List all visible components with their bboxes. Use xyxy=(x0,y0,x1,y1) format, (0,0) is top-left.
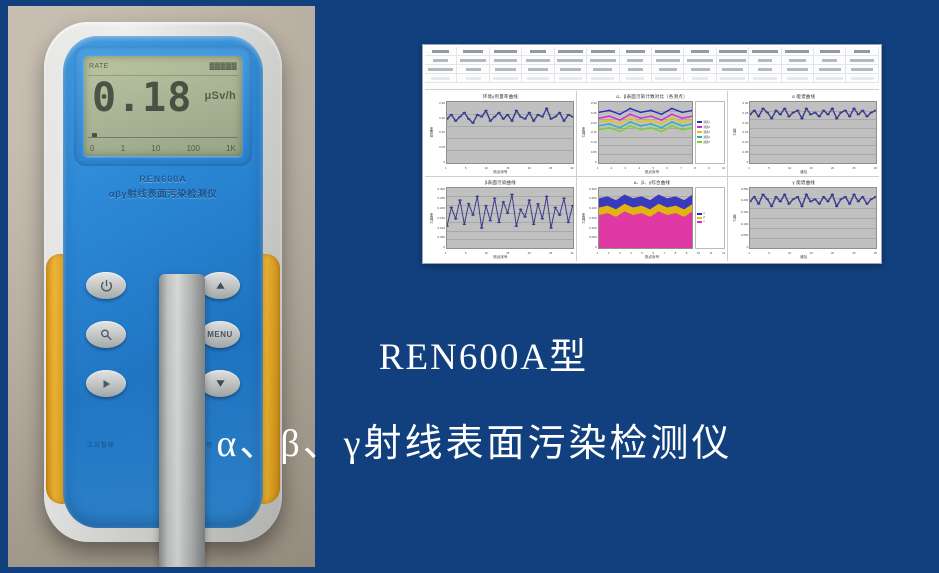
y-axis-ticks: 0.300.250.200.150.100.050 xyxy=(586,101,598,164)
table-cell xyxy=(490,65,522,73)
x-axis-label: 测点序号 xyxy=(425,170,576,176)
table-cell xyxy=(684,74,716,82)
data-point xyxy=(660,123,663,125)
table-cell xyxy=(620,47,652,55)
y-tick: 0.050 xyxy=(589,235,597,239)
plot-canvas xyxy=(749,101,877,164)
data-point xyxy=(463,112,467,114)
data-point xyxy=(670,108,673,110)
data-point xyxy=(792,112,796,114)
line-series xyxy=(750,194,876,206)
data-point xyxy=(629,121,632,123)
data-point xyxy=(480,227,484,229)
device-chinese-label: αβγ射线表面污染检测仪 xyxy=(63,186,263,200)
data-point xyxy=(608,110,611,112)
data-point xyxy=(853,108,857,110)
y-tick: 0.05 xyxy=(591,150,597,154)
data-point xyxy=(809,200,813,202)
table-cell xyxy=(846,65,878,73)
chart-legend: 通道1通道2通道3通道4通道5 xyxy=(695,101,725,164)
data-point xyxy=(831,108,835,110)
data-point xyxy=(558,214,562,216)
y-tick: 0.10 xyxy=(742,140,748,144)
table-cell xyxy=(555,47,587,55)
table-row xyxy=(425,65,879,74)
y-tick: 0.25 xyxy=(591,111,597,115)
data-point xyxy=(629,108,632,110)
plot-canvas xyxy=(446,101,574,164)
data-point xyxy=(519,116,523,118)
chart-series-svg xyxy=(447,188,573,249)
data-point xyxy=(608,115,611,117)
y-tick: 0.100 xyxy=(741,222,749,226)
data-point xyxy=(536,202,540,204)
table-cell xyxy=(522,56,554,64)
data-point xyxy=(639,117,642,119)
table-cell xyxy=(620,74,652,82)
scale-tick: 1 xyxy=(121,144,125,153)
data-point xyxy=(447,225,449,227)
data-point xyxy=(532,120,536,122)
data-point xyxy=(489,219,493,221)
data-point xyxy=(805,108,809,110)
y-tick: 0 xyxy=(443,245,445,249)
data-point xyxy=(779,200,783,202)
scale-tick: 1K xyxy=(226,144,236,153)
data-point xyxy=(805,193,809,195)
data-point xyxy=(762,108,766,110)
data-point xyxy=(792,198,796,200)
data-point xyxy=(567,221,571,223)
chart-title: α、β表面污染计数对比（各测点） xyxy=(579,94,726,101)
legend-label: 通道5 xyxy=(703,140,710,144)
data-point xyxy=(629,125,632,127)
legend-item: 通道5 xyxy=(697,140,723,144)
data-point xyxy=(809,114,813,116)
legend-swatch xyxy=(697,131,702,133)
data-point xyxy=(861,110,865,112)
y-tick: 0.15 xyxy=(742,130,748,134)
legend-swatch xyxy=(697,136,702,138)
legend-item: β xyxy=(697,216,723,219)
y-tick: 0.20 xyxy=(591,121,597,125)
legend-item: 通道2 xyxy=(697,125,723,129)
data-point xyxy=(848,116,852,118)
data-point xyxy=(515,225,519,227)
data-point xyxy=(844,195,848,197)
data-point xyxy=(827,200,831,202)
y-tick: 0.05 xyxy=(742,150,748,154)
data-point xyxy=(779,114,783,116)
data-point xyxy=(608,123,611,125)
data-point xyxy=(649,119,652,121)
data-point xyxy=(545,108,549,110)
chart-panel: α、β表面污染计数对比（各测点）计数率0.300.250.200.150.100… xyxy=(577,91,728,176)
table-cell xyxy=(587,74,619,82)
data-point xyxy=(484,110,488,112)
y-tick: 0.300 xyxy=(437,187,445,191)
y-tick: 0.250 xyxy=(437,196,445,200)
y-tick: 0.30 xyxy=(742,101,748,105)
y-axis-ticks: 0.3000.2500.2000.1500.1000.0500 xyxy=(586,187,598,250)
data-point xyxy=(562,120,566,122)
data-point xyxy=(450,114,454,116)
data-point xyxy=(775,110,779,112)
table-cell xyxy=(717,74,749,82)
data-point xyxy=(639,121,642,123)
table-row xyxy=(425,56,879,65)
data-point xyxy=(484,204,488,206)
data-point xyxy=(757,116,761,118)
legend-item: 通道4 xyxy=(697,135,723,139)
table-cell xyxy=(490,74,522,82)
line-series xyxy=(599,126,693,132)
table-cell xyxy=(425,47,457,55)
data-point xyxy=(532,223,536,225)
y-tick: 0.20 xyxy=(742,121,748,125)
table-cell xyxy=(684,65,716,73)
legend-item: α xyxy=(697,212,723,215)
data-point xyxy=(536,114,540,116)
lcd-status-bar: RATE ▓▓▓▓▓ xyxy=(89,59,237,73)
data-point xyxy=(770,205,774,207)
scale-tick: 100 xyxy=(187,144,200,153)
data-point xyxy=(796,110,800,112)
plot-area: 计数率0.3000.2500.2000.1500.1000.0500αβγ xyxy=(579,187,726,250)
area-series xyxy=(599,211,693,248)
table-cell xyxy=(684,47,716,55)
data-point xyxy=(608,127,611,129)
data-point xyxy=(523,118,527,120)
data-point xyxy=(480,116,484,118)
table-cell xyxy=(620,56,652,64)
data-point xyxy=(467,202,471,204)
data-point xyxy=(840,112,844,114)
table-cell xyxy=(846,74,878,82)
table-cell xyxy=(846,56,878,64)
y-axis-ticks: 0.2500.2000.1500.1000.0500 xyxy=(737,187,749,250)
data-point xyxy=(476,114,480,116)
data-point xyxy=(681,117,684,119)
y-tick: 0 xyxy=(443,160,445,164)
data-point xyxy=(866,203,870,205)
y-tick: 0 xyxy=(595,160,597,164)
y-tick: 0.150 xyxy=(437,216,445,220)
data-point xyxy=(814,112,818,114)
data-point xyxy=(848,203,852,205)
data-point xyxy=(562,197,566,199)
data-point xyxy=(857,200,861,202)
data-point xyxy=(541,116,545,118)
chart-title: 环境γ剂量率曲线 xyxy=(427,94,574,101)
data-point xyxy=(660,131,663,133)
data-point xyxy=(618,113,621,115)
model-title: REN600A型 xyxy=(0,326,939,380)
table-cell xyxy=(749,56,781,64)
table-cell xyxy=(652,74,684,82)
data-point xyxy=(814,198,818,200)
data-point xyxy=(545,195,549,197)
data-point xyxy=(766,112,770,114)
y-tick: 0 xyxy=(747,245,749,249)
table-cell xyxy=(814,56,846,64)
data-point xyxy=(762,193,766,195)
legend-label: 通道3 xyxy=(703,130,710,134)
y-tick: 0 xyxy=(595,245,597,249)
line-series xyxy=(750,108,876,118)
lcd-reading-value: 0.18 xyxy=(92,76,192,120)
table-cell xyxy=(457,74,489,82)
data-point xyxy=(639,111,642,113)
data-point xyxy=(549,227,553,229)
plot-area: 计数率0.300.250.200.150.100.050通道1通道2通道3通道4… xyxy=(579,101,726,164)
data-point xyxy=(822,195,826,197)
data-point xyxy=(497,221,501,223)
power-button[interactable] xyxy=(86,272,126,299)
y-tick: 0.30 xyxy=(591,101,597,105)
legend-label: 通道1 xyxy=(703,120,710,124)
data-point xyxy=(502,118,506,120)
data-point xyxy=(870,112,874,114)
line-series xyxy=(599,122,693,128)
data-point xyxy=(510,120,514,122)
table-cell xyxy=(814,74,846,82)
table-cell xyxy=(425,56,457,64)
legend-swatch xyxy=(697,121,702,123)
power-icon xyxy=(100,279,113,292)
data-point xyxy=(866,116,870,118)
table-cell xyxy=(522,47,554,55)
data-point xyxy=(458,199,462,201)
table-cell xyxy=(587,56,619,64)
legend-item: 通道3 xyxy=(697,130,723,134)
data-point xyxy=(567,114,571,116)
y-tick: 0.050 xyxy=(437,235,445,239)
table-cell xyxy=(749,65,781,73)
data-point xyxy=(681,111,684,113)
data-point xyxy=(681,121,684,123)
data-point xyxy=(493,116,497,118)
chart-title: α、β、γ综合曲线 xyxy=(579,180,726,187)
chart-series-svg xyxy=(750,102,876,163)
table-cell xyxy=(684,56,716,64)
table-row xyxy=(425,47,879,56)
data-point xyxy=(497,112,501,114)
y-tick: 0.20 xyxy=(439,116,445,120)
chart-series-svg xyxy=(447,102,573,163)
x-axis-label: 测点序号 xyxy=(425,255,576,261)
data-point xyxy=(528,112,532,114)
data-point xyxy=(861,195,865,197)
data-point xyxy=(775,195,779,197)
x-axis-label: 测点序号 xyxy=(577,255,728,261)
data-point xyxy=(571,204,573,206)
table-cell xyxy=(522,65,554,73)
legend-swatch xyxy=(697,126,702,128)
data-point xyxy=(788,116,792,118)
data-point xyxy=(670,121,673,123)
data-point xyxy=(458,116,462,118)
line-series xyxy=(599,118,693,124)
table-cell xyxy=(555,74,587,82)
data-point xyxy=(753,110,757,112)
legend-swatch xyxy=(697,221,702,223)
data-point xyxy=(454,120,458,122)
y-axis-label: 计数率 xyxy=(579,187,586,250)
y-axis-ticks: 0.3000.2500.2000.1500.1000.0500 xyxy=(434,187,446,250)
data-point xyxy=(670,125,673,127)
data-point xyxy=(493,197,497,199)
table-cell xyxy=(522,74,554,82)
data-point xyxy=(649,123,652,125)
data-point xyxy=(783,193,787,195)
data-point xyxy=(476,195,480,197)
data-point xyxy=(670,117,673,119)
x-axis-label: 测点序号 xyxy=(577,170,728,176)
lcd-unit-label: μSv/h xyxy=(205,90,236,102)
table-cell xyxy=(782,65,814,73)
plot-area: 剂量率0.300.200.100.050 xyxy=(427,101,574,164)
table-cell xyxy=(652,47,684,55)
data-point xyxy=(502,201,506,203)
data-point xyxy=(618,123,621,125)
data-point xyxy=(467,118,471,120)
data-point xyxy=(629,113,632,115)
data-point xyxy=(639,129,642,131)
table-cell xyxy=(717,47,749,55)
y-tick: 0.150 xyxy=(741,210,749,214)
data-point xyxy=(450,206,454,208)
product-photo: RATE ▓▓▓▓▓ 0.18 μSv/h 0 1 10 100 1K xyxy=(8,6,315,567)
data-point xyxy=(618,131,621,133)
data-point xyxy=(618,119,621,121)
data-point xyxy=(528,199,532,201)
y-axis-ticks: 0.300.250.200.150.100.050 xyxy=(737,101,749,164)
data-point xyxy=(639,125,642,127)
data-point xyxy=(766,198,770,200)
table-cell xyxy=(457,47,489,55)
data-point xyxy=(510,193,514,195)
legend-label: 通道4 xyxy=(703,135,710,139)
y-axis-ticks: 0.300.200.100.050 xyxy=(434,101,446,164)
data-point xyxy=(801,205,805,207)
table-cell xyxy=(425,74,457,82)
table-cell xyxy=(782,56,814,64)
data-point xyxy=(753,195,757,197)
data-point xyxy=(649,115,652,117)
table-cell xyxy=(717,65,749,73)
scale-tick: 10 xyxy=(151,144,160,153)
plot-canvas xyxy=(446,187,574,250)
y-tick: 0.100 xyxy=(437,226,445,230)
data-point xyxy=(818,203,822,205)
data-point xyxy=(541,217,545,219)
plot-canvas xyxy=(749,187,877,250)
x-axis-label: 道址 xyxy=(728,170,879,176)
up-button[interactable] xyxy=(200,272,240,299)
table-cell xyxy=(457,56,489,64)
data-point xyxy=(471,214,475,216)
data-point xyxy=(523,215,527,217)
legend-label: α xyxy=(703,212,705,215)
legend-label: 通道2 xyxy=(703,125,710,129)
data-point xyxy=(489,120,493,122)
line-series xyxy=(599,108,693,114)
device-model-label: REN600A xyxy=(63,174,263,184)
plot-canvas xyxy=(598,101,694,164)
y-tick: 0.05 xyxy=(439,145,445,149)
y-tick: 0.200 xyxy=(437,206,445,210)
chart-panel: α 能谱曲线计数0.300.250.200.150.100.0501510152… xyxy=(728,91,879,176)
y-axis-label: 计数率 xyxy=(427,187,434,250)
table-cell xyxy=(490,47,522,55)
y-tick: 0.25 xyxy=(742,111,748,115)
data-point xyxy=(681,125,684,127)
data-point xyxy=(835,118,839,120)
table-cell xyxy=(717,56,749,64)
y-tick: 0.250 xyxy=(589,196,597,200)
data-point xyxy=(554,116,558,118)
data-point xyxy=(835,205,839,207)
legend-swatch xyxy=(697,141,702,143)
y-tick: 0.15 xyxy=(591,130,597,134)
data-point xyxy=(660,119,663,121)
chart-series-svg xyxy=(599,188,693,249)
legend-swatch xyxy=(697,217,702,219)
chart-series-svg xyxy=(750,188,876,249)
data-point xyxy=(618,127,621,129)
lcd-scale: 0 1 10 100 1K xyxy=(88,137,238,153)
legend-label: β xyxy=(703,216,705,219)
product-slide: RATE ▓▓▓▓▓ 0.18 μSv/h 0 1 10 100 1K xyxy=(0,0,939,573)
chart-panel: β表面污染曲线计数率0.3000.2500.2000.1500.1000.050… xyxy=(425,177,576,262)
data-point xyxy=(649,110,652,112)
data-point xyxy=(796,195,800,197)
lcd-status-right: ▓▓▓▓▓ xyxy=(209,63,237,70)
table-cell xyxy=(846,47,878,55)
y-tick: 0.300 xyxy=(589,187,597,191)
line-series xyxy=(599,114,693,120)
data-point xyxy=(649,127,652,129)
y-axis-label: 计数 xyxy=(730,101,737,164)
legend-swatch xyxy=(697,213,702,215)
data-point xyxy=(857,114,861,116)
table-cell xyxy=(814,47,846,55)
chevron-up-icon xyxy=(214,280,227,291)
chart-title: β表面污染曲线 xyxy=(427,180,574,187)
chart-series-svg xyxy=(599,102,693,163)
plot-area: 计数率0.3000.2500.2000.1500.1000.0500 xyxy=(427,187,574,250)
scale-tick: 0 xyxy=(90,144,94,153)
table-cell xyxy=(782,47,814,55)
data-point xyxy=(549,118,553,120)
data-point xyxy=(471,122,475,124)
table-cell xyxy=(749,47,781,55)
data-point xyxy=(454,217,458,219)
lcd-display: RATE ▓▓▓▓▓ 0.18 μSv/h 0 1 10 100 1K xyxy=(84,56,242,156)
y-tick: 0 xyxy=(747,160,749,164)
y-tick: 0.10 xyxy=(439,130,445,134)
lcd-bezel: RATE ▓▓▓▓▓ 0.18 μSv/h 0 1 10 100 1K xyxy=(74,46,252,166)
data-point xyxy=(757,203,761,205)
table-cell xyxy=(457,65,489,73)
chart-grid: 环境γ剂量率曲线剂量率0.300.200.100.050151015202530… xyxy=(425,91,879,261)
plot-canvas xyxy=(598,187,694,250)
chart-panel: γ 能谱曲线计数0.2500.2000.1500.1000.0500151015… xyxy=(728,177,879,262)
data-point xyxy=(629,117,632,119)
plot-area: 计数0.2500.2000.1500.1000.0500 xyxy=(730,187,877,250)
chart-panel: α、β、γ综合曲线计数率0.3000.2500.2000.1500.1000.0… xyxy=(577,177,728,262)
